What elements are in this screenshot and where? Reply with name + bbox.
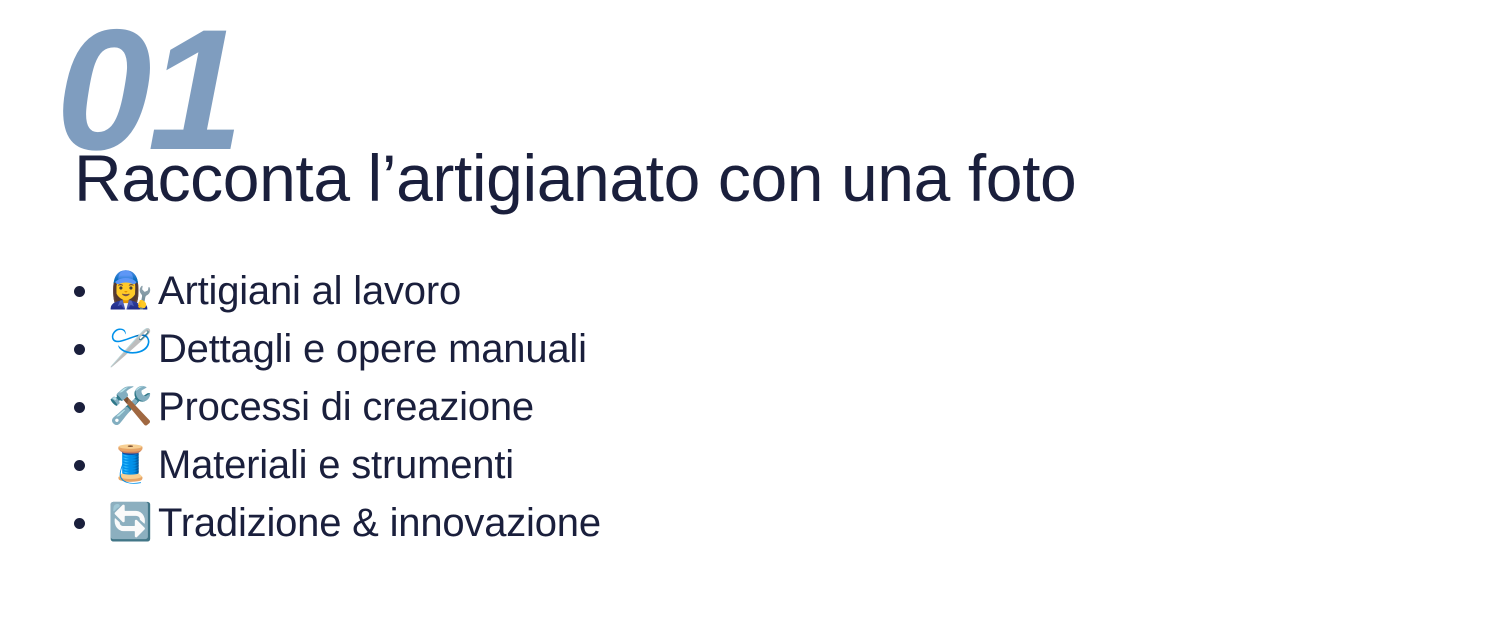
- list-item: 🧵 Materiali e strumenti: [74, 436, 601, 494]
- bullet-marker-icon: [74, 286, 85, 297]
- list-item: 🪡 Dettagli e opere manuali: [74, 320, 601, 378]
- bullet-marker-icon: [74, 344, 85, 355]
- list-item-label: Tradizione & innovazione: [158, 501, 601, 546]
- list-item: 👩‍🔧 Artigiani al lavoro: [74, 262, 601, 320]
- page-title: Racconta l’artigianato con una foto: [74, 140, 1076, 218]
- list-item-label: Materiali e strumenti: [158, 443, 514, 488]
- counterclockwise-arrows-emoji: 🔄: [108, 505, 152, 541]
- woman-mechanic-emoji: 👩‍🔧: [108, 273, 152, 309]
- thread-spool-emoji: 🧵: [108, 447, 152, 483]
- slide-canvas: 01 Racconta l’artigianato con una foto 👩…: [0, 0, 1500, 633]
- list-item-label: Processi di creazione: [158, 385, 534, 430]
- bullet-list: 👩‍🔧 Artigiani al lavoro 🪡 Dettagli e ope…: [74, 262, 601, 552]
- sewing-needle-emoji: 🪡: [108, 331, 152, 367]
- bullet-marker-icon: [74, 402, 85, 413]
- hammer-and-wrench-emoji: 🛠️: [108, 389, 152, 425]
- list-item: 🔄 Tradizione & innovazione: [74, 494, 601, 552]
- list-item-label: Artigiani al lavoro: [158, 269, 461, 314]
- bullet-marker-icon: [74, 518, 85, 529]
- bullet-marker-icon: [74, 460, 85, 471]
- list-item-label: Dettagli e opere manuali: [158, 327, 587, 372]
- list-item: 🛠️ Processi di creazione: [74, 378, 601, 436]
